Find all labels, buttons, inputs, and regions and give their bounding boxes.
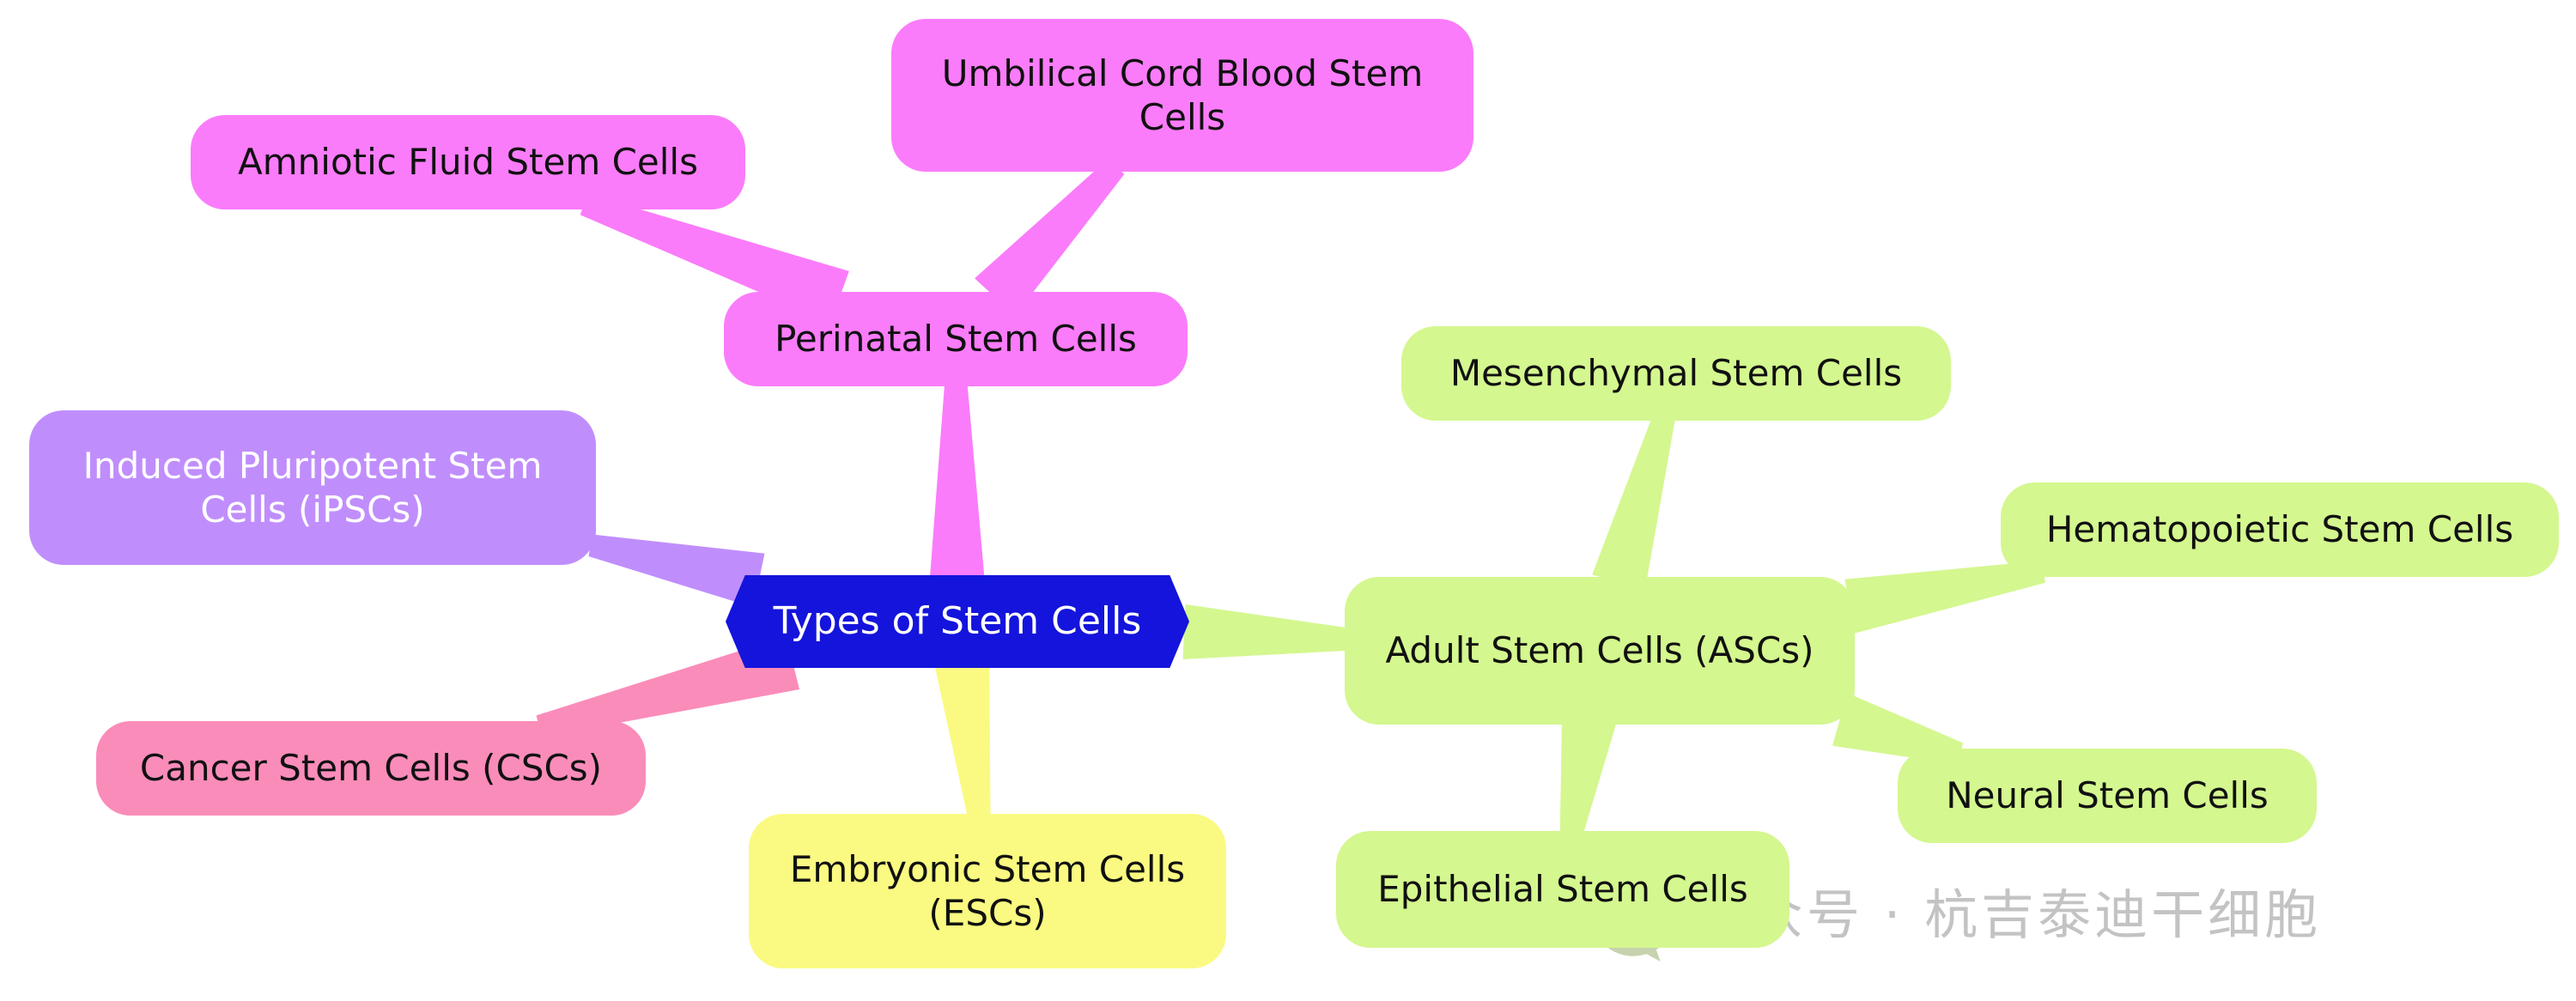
node-perinatal[interactable]: Perinatal Stem Cells [724,292,1188,386]
node-label-amniotic: Amniotic Fluid Stem Cells [213,140,723,184]
node-mesenchymal[interactable]: Mesenchymal Stem Cells [1401,326,1951,421]
node-adult[interactable]: Adult Stem Cells (ASCs) [1345,577,1855,725]
edge-adult-epithelial [1560,715,1617,838]
node-embryonic[interactable]: Embryonic Stem Cells (ESCs) [749,814,1226,968]
node-label-cord-blood: Umbilical Cord Blood Stem Cells [914,52,1451,139]
node-label-neural: Neural Stem Cells [1920,773,2294,817]
node-epithelial[interactable]: Epithelial Stem Cells [1336,831,1789,948]
node-cancer[interactable]: Cancer Stem Cells (CSCs) [96,721,646,816]
node-ipsc[interactable]: Induced Pluripotent Stem Cells (iPSCs) [29,410,596,565]
node-label-epithelial: Epithelial Stem Cells [1358,867,1767,911]
node-cord-blood[interactable]: Umbilical Cord Blood Stem Cells [891,19,1473,172]
edge-root-adult [1183,604,1351,659]
edge-root-embryonic [935,659,991,820]
node-label-adult: Adult Stem Cells (ASCs) [1367,628,1832,672]
node-label-ipsc: Induced Pluripotent Stem Cells (iPSCs) [52,444,574,531]
mindmap-canvas: Types of Stem CellsPerinatal Stem CellsA… [0,0,2576,1001]
node-hematopoietic[interactable]: Hematopoietic Stem Cells [2001,482,2559,577]
edge-adult-hematopoietic [1844,561,2045,633]
node-root[interactable]: Types of Stem Cells [726,575,1189,668]
node-neural[interactable]: Neural Stem Cells [1898,749,2317,843]
edge-root-perinatal [930,381,985,580]
node-label-root: Types of Stem Cells [748,598,1167,645]
node-label-perinatal: Perinatal Stem Cells [746,317,1165,361]
edge-adult-mesenchymal [1592,413,1675,590]
node-label-mesenchymal: Mesenchymal Stem Cells [1424,351,1929,395]
node-label-cancer: Cancer Stem Cells (CSCs) [118,746,623,790]
node-amniotic[interactable]: Amniotic Fluid Stem Cells [191,115,745,209]
node-label-embryonic: Embryonic Stem Cells (ESCs) [771,847,1204,935]
node-label-hematopoietic: Hematopoietic Stem Cells [2023,507,2537,551]
